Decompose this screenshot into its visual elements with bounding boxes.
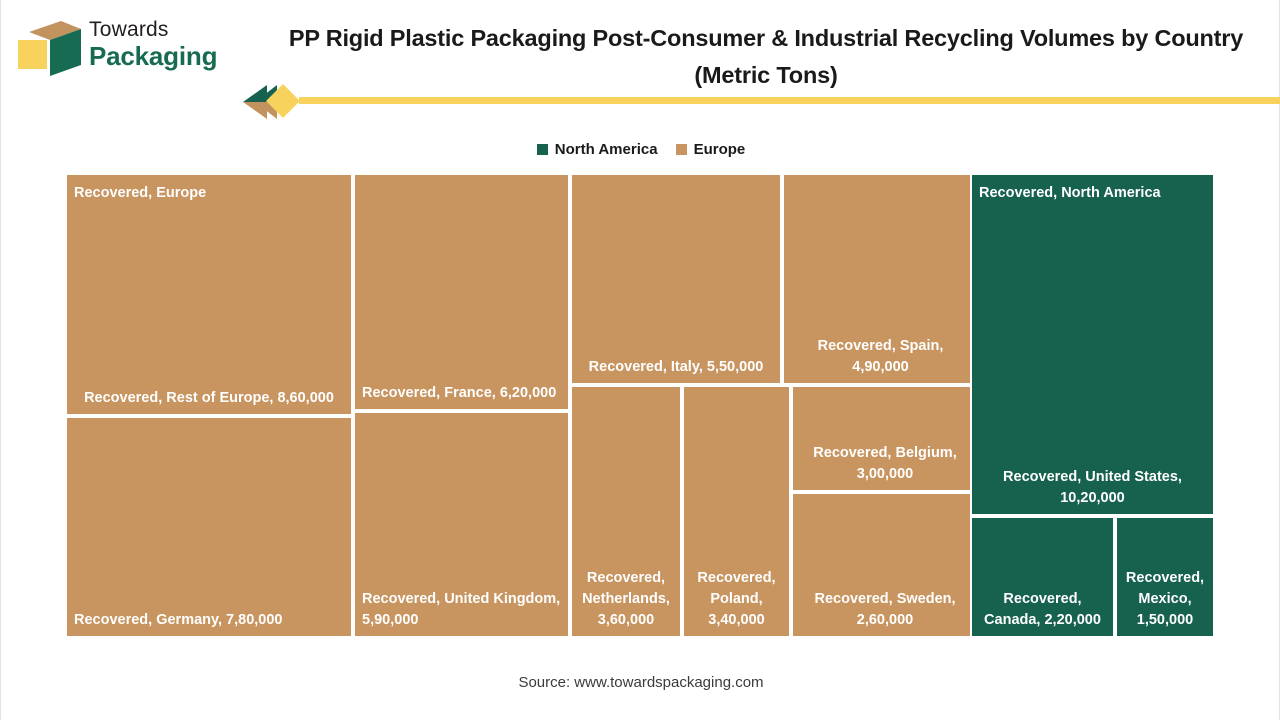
- treemap-tile-sweden[interactable]: Recovered, Sweden, 2,60,000: [791, 492, 979, 638]
- tile-label-canada: Recovered, Canada, 2,20,000: [977, 589, 1108, 631]
- brand-name-bottom: Packaging: [89, 42, 249, 71]
- legend-label-north-america: North America: [555, 141, 658, 158]
- treemap-tile-netherlands[interactable]: Recovered, Netherlands, 3,60,000: [570, 385, 682, 638]
- treemap-tile-poland[interactable]: Recovered, Poland, 3,40,000: [682, 385, 791, 638]
- treemap-tile-italy[interactable]: Recovered, Italy, 5,50,000: [570, 173, 782, 385]
- tile-label-germany: Recovered, Germany, 7,80,000: [74, 610, 346, 631]
- tile-label-united-kingdom: Recovered, United Kingdom, 5,90,000: [362, 589, 563, 631]
- page-root: Towards Packaging PP Rigid Plastic Packa…: [0, 0, 1280, 720]
- tile-label-poland: Recovered, Poland, 3,40,000: [689, 568, 784, 631]
- divider-decoration: [241, 84, 1280, 120]
- tile-label-netherlands: Recovered, Netherlands, 3,60,000: [577, 568, 675, 631]
- treemap-tile-spain[interactable]: Recovered, Spain, 4,90,000: [782, 173, 979, 385]
- tile-label-italy: Recovered, Italy, 5,50,000: [577, 357, 775, 378]
- legend-label-europe: Europe: [694, 141, 746, 158]
- treemap-tile-germany[interactable]: Recovered, Germany, 7,80,000: [65, 416, 353, 638]
- treemap-tile-united-kingdom[interactable]: Recovered, United Kingdom, 5,90,000: [353, 411, 570, 638]
- chart-legend: North America Europe: [1, 141, 1280, 158]
- tile-label-sweden: Recovered, Sweden, 2,60,000: [798, 589, 972, 631]
- page-title: PP Rigid Plastic Packaging Post-Consumer…: [261, 20, 1271, 94]
- treemap-tile-mexico[interactable]: Recovered, Mexico, 1,50,000: [1115, 516, 1215, 638]
- brand-name-top: Towards: [89, 17, 249, 42]
- treemap-tile-united-states[interactable]: Recovered, North America Recovered, Unit…: [970, 173, 1215, 516]
- treemap-tile-rest-of-europe[interactable]: Recovered, Europe Recovered, Rest of Eur…: [65, 173, 353, 416]
- treemap-tile-belgium[interactable]: Recovered, Belgium, 3,00,000: [791, 385, 979, 492]
- legend-swatch-europe: [676, 144, 687, 155]
- treemap-chart: Recovered, Europe Recovered, Rest of Eur…: [65, 173, 1215, 638]
- tile-label-spain: Recovered, Spain, 4,90,000: [789, 336, 972, 378]
- tile-label-belgium: Recovered, Belgium, 3,00,000: [798, 443, 972, 485]
- group-header-north-america: Recovered, North America: [979, 184, 1161, 203]
- legend-item-north-america[interactable]: North America: [537, 141, 658, 158]
- logo-svg: [15, 18, 81, 76]
- legend-item-europe[interactable]: Europe: [676, 141, 746, 158]
- isometric-box-icon: [15, 18, 81, 76]
- group-header-europe: Recovered, Europe: [74, 184, 206, 203]
- source-caption: Source: www.towardspackaging.com: [1, 674, 1280, 691]
- tile-label-rest-of-europe: Recovered, Rest of Europe, 8,60,000: [72, 388, 346, 409]
- legend-swatch-north-america: [537, 144, 548, 155]
- tile-label-united-states: Recovered, United States, 10,20,000: [977, 467, 1208, 509]
- treemap-tile-france[interactable]: Recovered, France, 6,20,000: [353, 173, 570, 411]
- brand-wordmark: Towards Packaging: [89, 17, 249, 71]
- tile-label-france: Recovered, France, 6,20,000: [362, 383, 563, 404]
- tile-label-mexico: Recovered, Mexico, 1,50,000: [1122, 568, 1208, 631]
- brand-logo: Towards Packaging: [15, 16, 247, 78]
- divider-line: [299, 97, 1280, 104]
- treemap-tile-canada[interactable]: Recovered, Canada, 2,20,000: [970, 516, 1115, 638]
